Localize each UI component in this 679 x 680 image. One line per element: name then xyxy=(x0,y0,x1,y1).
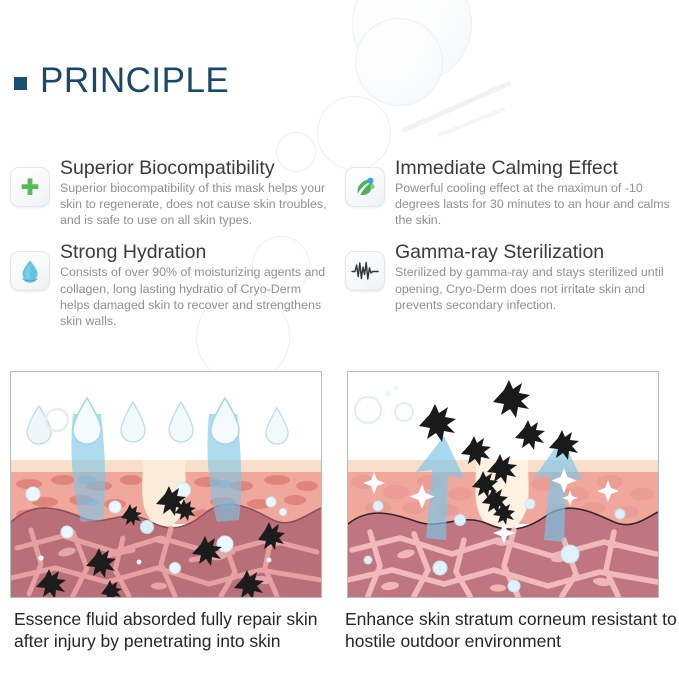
features-row-1: Superior Biocompatibility Superior bioco… xyxy=(0,158,679,228)
illustration-captions: Essence fluid absorded fully repair skin… xyxy=(0,608,679,652)
feature-title: Immediate Calming Effect xyxy=(395,158,670,179)
feature-description: Consists of over 90% of moisturizing age… xyxy=(60,264,331,329)
feature-title: Gamma-ray Sterilization xyxy=(395,242,670,263)
caption-left: Essence fluid absorded fully repair skin… xyxy=(0,608,339,652)
caption-text: Essence fluid absorded fully repair skin… xyxy=(14,608,339,652)
feature-item-superior-biocompatibility: Superior Biocompatibility Superior bioco… xyxy=(0,158,339,228)
feature-description: Powerful cooling effect at the maximun o… xyxy=(395,180,670,228)
skin-absorption-diagram xyxy=(10,371,322,598)
leaf-icon xyxy=(345,167,385,207)
features-row-2: Strong Hydration Consists of over 90% of… xyxy=(0,242,679,329)
feature-title: Superior Biocompatibility xyxy=(60,158,331,179)
page-title: PRINCIPLE xyxy=(40,63,229,98)
page-header: PRINCIPLE xyxy=(0,56,229,104)
skin-barrier-diagram xyxy=(347,371,659,598)
caption-text: Enhance skin stratum corneum resistant t… xyxy=(345,608,678,652)
waveform-icon xyxy=(345,251,385,291)
features-grid: Superior Biocompatibility Superior bioco… xyxy=(0,158,679,329)
feature-item-immediate-calming-effect: Immediate Calming Effect Powerful coolin… xyxy=(339,158,678,228)
feature-title: Strong Hydration xyxy=(60,242,331,263)
feature-description: Superior biocompatibility of this mask h… xyxy=(60,180,331,228)
principle-infographic-page: PRINCIPLE Superior Biocompatibility Supe… xyxy=(0,0,679,680)
water-drop-icon xyxy=(10,251,50,291)
feature-description: Sterilized by gamma-ray and stays steril… xyxy=(395,264,670,312)
green-cross-icon xyxy=(10,167,50,207)
feature-item-gamma-ray-sterilization: Gamma-ray Sterilization Sterilized by ga… xyxy=(339,242,678,329)
feature-item-strong-hydration: Strong Hydration Consists of over 90% of… xyxy=(0,242,339,329)
caption-right: Enhance skin stratum corneum resistant t… xyxy=(339,608,678,652)
illustration-panels xyxy=(0,371,679,599)
header-bullet-icon xyxy=(14,77,27,90)
